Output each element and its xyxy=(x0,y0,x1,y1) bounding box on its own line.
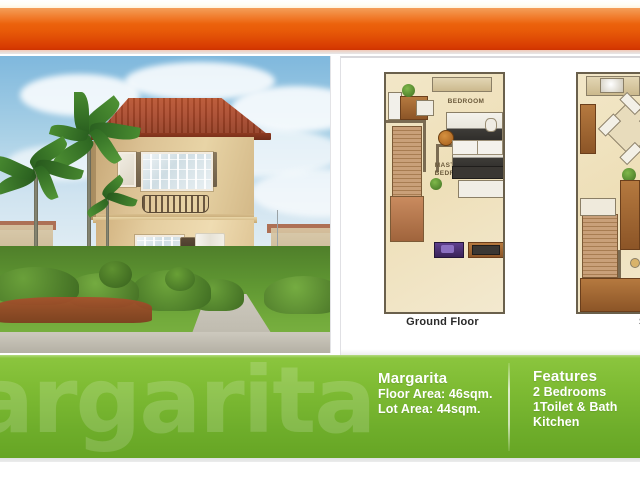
second-floor-plan[interactable]: LIV xyxy=(576,72,640,314)
shrub xyxy=(165,267,195,291)
floorplan-panel[interactable]: BEDROOM MASTER'S BEDROOM xyxy=(340,56,640,355)
dresser xyxy=(458,180,504,198)
potted-plant xyxy=(402,84,415,97)
banner-divider xyxy=(508,363,510,451)
orange-bar-gloss xyxy=(0,8,640,24)
feature-item: Kitchen xyxy=(533,415,640,430)
ground-floor-plan[interactable]: BEDROOM MASTER'S BEDROOM xyxy=(384,72,505,314)
sideboard xyxy=(580,104,596,154)
content-area: BEDROOM MASTER'S BEDROOM xyxy=(0,54,640,355)
pillow xyxy=(485,118,497,132)
watermark-text: argarita xyxy=(0,355,374,453)
features-column: Features 2 Bedrooms 1Toilet & Bath Kitch… xyxy=(533,368,640,430)
staircase xyxy=(582,214,618,278)
hall-runner xyxy=(620,180,640,250)
entry-porch xyxy=(390,196,424,242)
rug-inner xyxy=(441,245,454,253)
floorplan-stage: BEDROOM MASTER'S BEDROOM xyxy=(341,58,640,313)
street-curb xyxy=(0,332,330,353)
footer-area xyxy=(0,462,640,480)
interior-wall xyxy=(423,120,426,172)
room-label-bedroom: BEDROOM xyxy=(438,98,494,106)
interior-wall xyxy=(386,120,426,123)
sink xyxy=(600,78,624,93)
orange-header-bar xyxy=(0,8,640,50)
potted-plant xyxy=(430,178,442,190)
shrub xyxy=(99,261,132,288)
floor-area-text: Floor Area: 46sqm. xyxy=(378,387,508,402)
counter xyxy=(432,77,492,92)
appliance xyxy=(472,245,500,255)
bed-foot xyxy=(452,166,504,179)
model-name: Margarita xyxy=(378,370,508,387)
house-photo-panel[interactable] xyxy=(0,56,331,353)
pillow xyxy=(452,140,478,155)
top-white-strip xyxy=(0,0,640,8)
ground-floor-caption: Ground Floor xyxy=(384,316,501,328)
model-info-column: Margarita Floor Area: 46sqm. Lot Area: 4… xyxy=(378,370,508,417)
second-floor-caption: Secon xyxy=(576,316,640,328)
features-heading: Features xyxy=(533,368,640,385)
flower-bed xyxy=(0,297,152,324)
feature-item: 2 Bedrooms xyxy=(533,385,640,400)
toilet xyxy=(416,100,434,116)
staircase xyxy=(392,126,422,198)
lot-area-text: Lot Area: 44sqm. xyxy=(378,402,508,417)
garage-floor xyxy=(580,278,640,312)
landing xyxy=(580,198,616,216)
hedge xyxy=(264,276,331,315)
interior-wall xyxy=(618,250,621,278)
house-exterior-photo xyxy=(0,56,330,353)
door-swing xyxy=(630,258,640,268)
page-root: BEDROOM MASTER'S BEDROOM xyxy=(0,0,640,480)
pillow xyxy=(477,140,503,155)
feature-item: 1Toilet & Bath xyxy=(533,400,640,415)
